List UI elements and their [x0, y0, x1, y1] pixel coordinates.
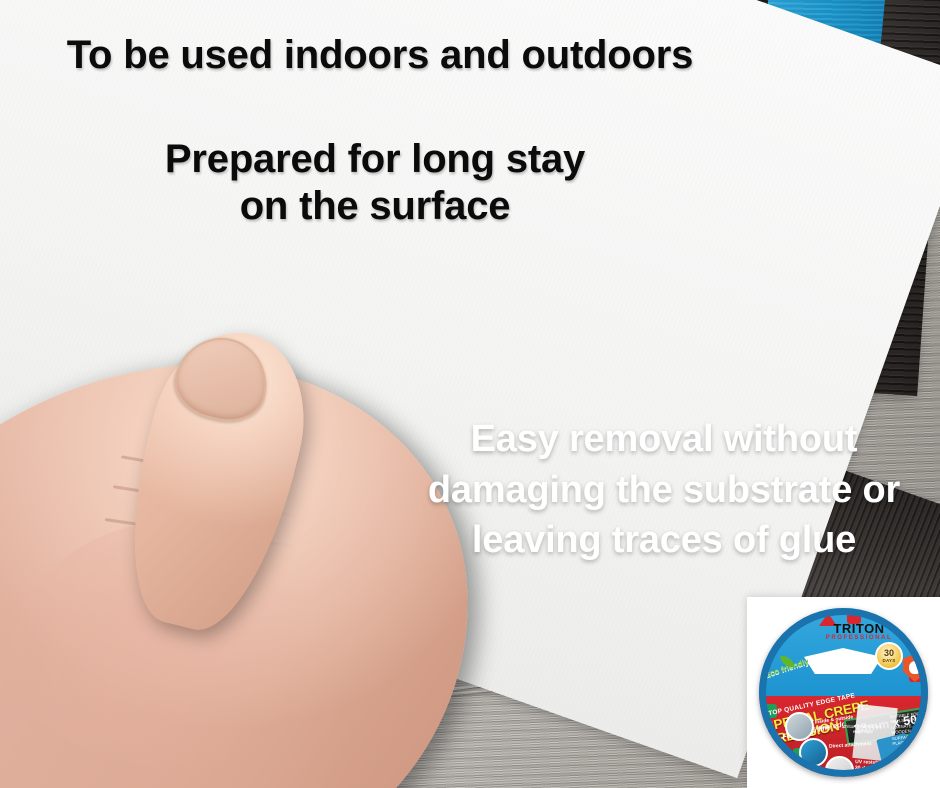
headline-indoor-outdoor: To be used indoors and outdoors [0, 32, 760, 79]
headline-long-stay: Prepared for long stay on the surface [0, 136, 750, 230]
promo-image: To be used indoors and outdoors Prepared… [0, 0, 940, 788]
headline-easy-removal: Easy removal without damaging the substr… [400, 414, 928, 566]
product-package-card: TRITON PROFESSIONAL Eco friendly 30 DAYS… [747, 597, 940, 788]
package-rim [759, 608, 928, 777]
tape-roll-package: TRITON PROFESSIONAL Eco friendly 30 DAYS… [759, 608, 928, 777]
